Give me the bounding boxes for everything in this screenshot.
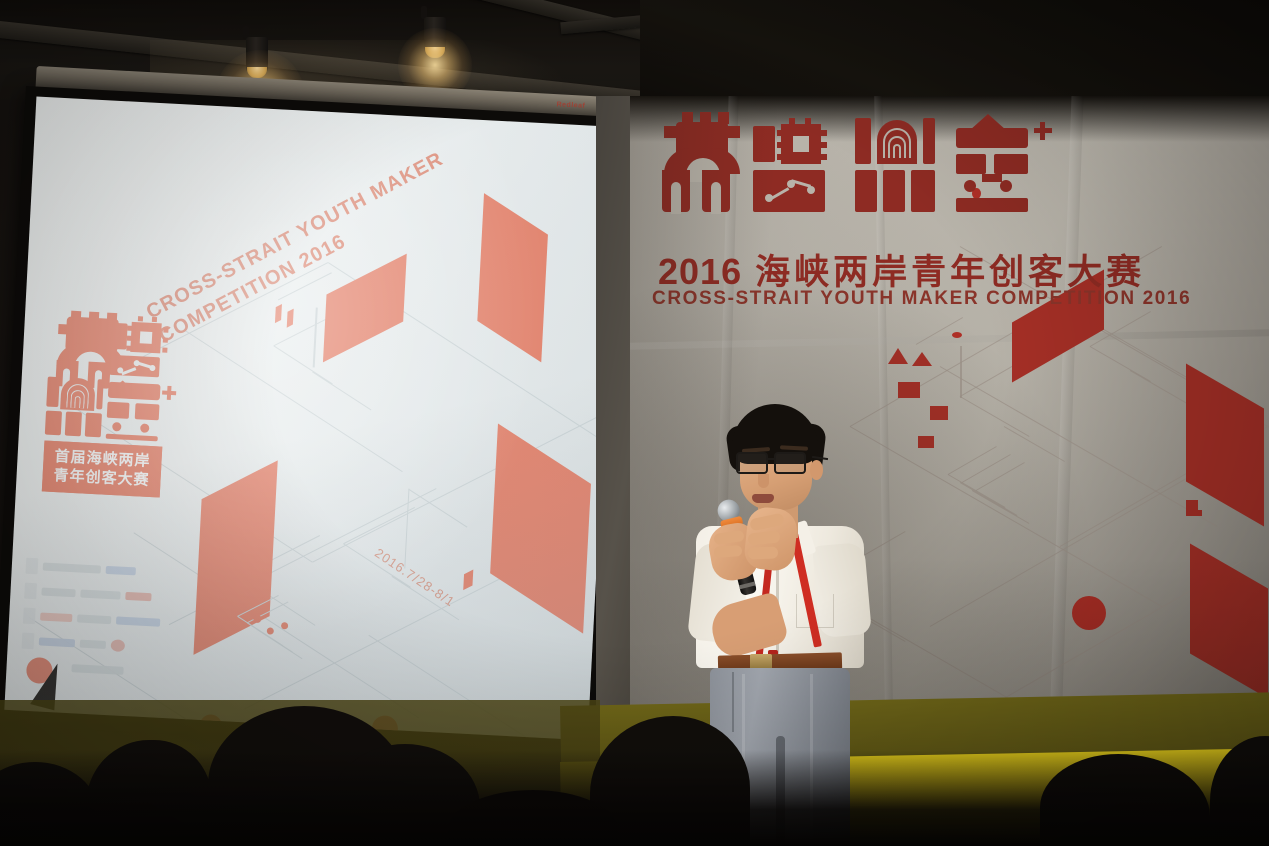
sponsor-mark xyxy=(80,590,120,600)
slide-badge: 首届海峡两岸 青年创客大赛 xyxy=(42,440,163,497)
sponsor-mark xyxy=(41,588,75,598)
logo-glyph-chuang xyxy=(45,376,105,436)
stage-photo-scene: Redleaf xyxy=(0,0,1269,846)
sponsor-row xyxy=(22,633,215,659)
banner-year: 2016 xyxy=(658,251,742,293)
sponsor-mark xyxy=(39,637,75,647)
sponsor-mark xyxy=(80,640,106,649)
sponsor-row-label xyxy=(22,633,35,650)
sponsor-row-label xyxy=(25,558,38,575)
logo-glyph-ke xyxy=(105,379,165,439)
sponsor-mark xyxy=(111,639,126,652)
trouser-inseam xyxy=(776,736,785,846)
slide-title-line2: COMPETITION 2016 xyxy=(155,171,459,350)
sponsor-mark xyxy=(106,566,136,576)
banner-title-en: CROSS-STRAIT YOUTH MAKER COMPETITION 201… xyxy=(652,288,1191,310)
slide-date: 2016.7/28-8/1 xyxy=(372,545,458,610)
banner-glyph-zhi xyxy=(753,118,849,234)
projection-screen: CROSS-STRAIT YOUTH MAKER COMPETITION 201… xyxy=(0,86,629,757)
sponsor-row xyxy=(23,608,216,634)
logo-glyph-zhi xyxy=(108,319,168,379)
sponsor-row-label xyxy=(24,583,37,600)
spotlight-body xyxy=(424,17,446,51)
screen-brand-label: Redleaf xyxy=(556,101,585,110)
sponsor-mark xyxy=(77,614,111,624)
sponsor-mark xyxy=(71,664,123,675)
banner-logo xyxy=(652,118,1052,234)
sponsor-row xyxy=(24,583,217,609)
glasses-lens xyxy=(736,452,768,474)
logo-glyph-zhong xyxy=(48,316,108,376)
speaker-finger xyxy=(714,545,743,558)
glasses-icon xyxy=(736,452,818,476)
sponsor-mark xyxy=(125,592,151,601)
trouser-pleat xyxy=(732,672,734,732)
banner-glyph-chuang xyxy=(855,118,951,234)
glasses-bridge xyxy=(768,458,776,460)
trouser-crease xyxy=(810,674,813,846)
speaker-nose xyxy=(758,474,769,488)
projected-slide: CROSS-STRAIT YOUTH MAKER COMPETITION 201… xyxy=(4,97,619,741)
sponsor-row-label xyxy=(23,608,36,625)
sponsor-row xyxy=(25,558,218,584)
speaker-finger xyxy=(748,546,778,559)
sponsor-mark xyxy=(43,563,101,574)
sponsor-mark xyxy=(116,616,160,626)
slide-title: CROSS-STRAIT YOUTH MAKER COMPETITION 201… xyxy=(142,147,459,350)
slide-title-line1: CROSS-STRAIT YOUTH MAKER xyxy=(142,147,446,326)
slide-logo: 首届海峡两岸 青年创客大赛 xyxy=(42,316,173,499)
speaker-mouth xyxy=(752,494,774,503)
banner-glyph-ke xyxy=(956,118,1052,234)
sponsor-mark xyxy=(40,612,72,622)
glasses-lens xyxy=(774,452,806,474)
slide-logo-glyphs xyxy=(45,316,169,440)
spotlight-body xyxy=(246,37,268,71)
banner-glyph-zhong xyxy=(652,118,748,234)
